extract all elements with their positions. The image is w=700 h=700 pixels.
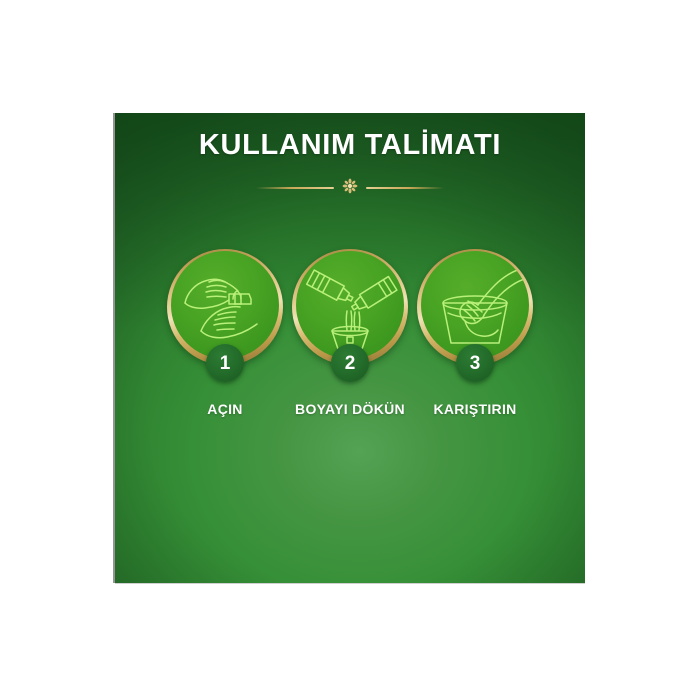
page-title: KULLANIM TALİMATI	[115, 129, 585, 162]
flower-rosette-icon	[342, 178, 358, 199]
step-medallion-2: 2	[292, 249, 408, 365]
page-canvas: KULLANIM TALİMATI	[0, 0, 700, 700]
step-label-2: BOYAYI DÖKÜN	[295, 401, 405, 417]
step-item-2[interactable]: 2 BOYAYI DÖKÜN	[288, 249, 413, 417]
step-medallion-1: 1	[167, 249, 283, 365]
step-disc-1	[171, 251, 279, 359]
step-label-1: AÇIN	[207, 401, 242, 417]
hands-opening-tube-icon	[171, 251, 279, 359]
hand-mixing-bowl-brush-icon	[421, 251, 529, 359]
step-item-3[interactable]: 3 KARIŞTIRIN	[413, 249, 538, 417]
usage-instructions-panel: KULLANIM TALİMATI	[115, 113, 585, 583]
step-disc-3	[421, 251, 529, 359]
divider-line-left	[256, 187, 334, 189]
steps-row: 1 AÇIN	[115, 249, 585, 417]
step-number-badge-3: 3	[456, 344, 494, 382]
step-item-1[interactable]: 1 AÇIN	[163, 249, 288, 417]
divider-line-right	[366, 187, 444, 189]
step-disc-2	[296, 251, 404, 359]
tubes-pouring-into-bowl-icon	[296, 251, 404, 359]
step-medallion-3: 3	[417, 249, 533, 365]
step-label-3: KARIŞTIRIN	[433, 401, 516, 417]
step-number-badge-1: 1	[206, 344, 244, 382]
decorative-divider	[115, 175, 585, 201]
step-number-badge-2: 2	[331, 344, 369, 382]
